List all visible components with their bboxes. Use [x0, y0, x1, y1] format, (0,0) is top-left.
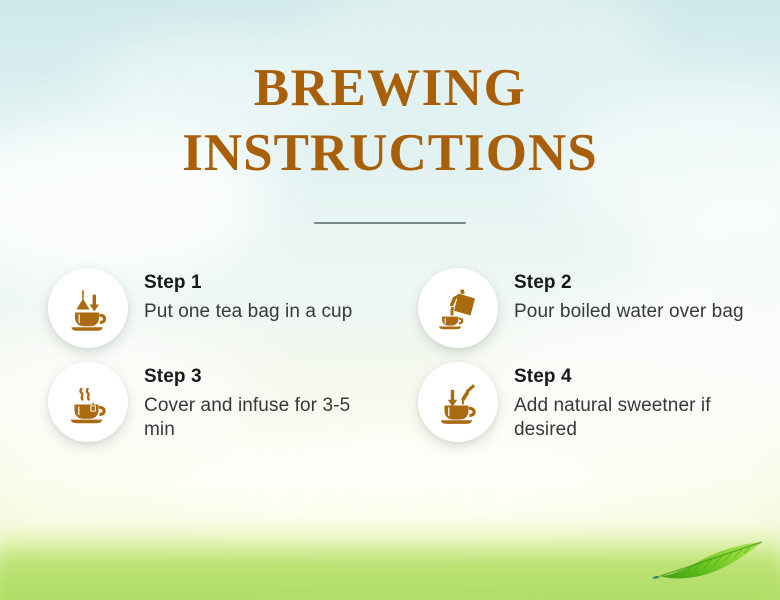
step-label: Step 2 [514, 273, 744, 294]
step-text: Step 3 Cover and infuse for 3-5 min [144, 362, 378, 443]
step-description: Add natural sweetner if desired [514, 394, 748, 443]
step-description: Pour boiled water over bag [514, 300, 744, 324]
page-title-line-1: BREWING [0, 62, 780, 115]
title-divider [314, 222, 466, 224]
step-icon-badge [418, 362, 498, 442]
honey-dipper-over-cup-icon [432, 376, 484, 428]
step-icon-badge [418, 268, 498, 348]
page-title: BREWING INSTRUCTIONS [0, 62, 780, 180]
step-label: Step 4 [514, 367, 748, 388]
step-label: Step 1 [144, 273, 352, 294]
step-item: Step 2 Pour boiled water over bag [418, 268, 748, 348]
brewing-instructions-card: BREWING INSTRUCTIONS [0, 0, 780, 600]
kettle-pouring-icon [432, 282, 484, 334]
teabag-into-cup-icon [62, 282, 114, 334]
page-title-line-2: INSTRUCTIONS [0, 127, 780, 180]
step-icon-badge [48, 268, 128, 348]
step-text: Step 2 Pour boiled water over bag [514, 268, 744, 324]
steps-grid: Step 1 Put one tea bag in a cup [48, 268, 748, 443]
green-leaf-icon [650, 526, 772, 588]
steaming-cup-with-teabag-icon [62, 376, 114, 428]
step-label: Step 3 [144, 367, 378, 388]
step-description: Put one tea bag in a cup [144, 300, 352, 324]
step-item: Step 3 Cover and infuse for 3-5 min [48, 362, 378, 443]
step-description: Cover and infuse for 3-5 min [144, 394, 378, 443]
step-text: Step 4 Add natural sweetner if desired [514, 362, 748, 443]
step-item: Step 4 Add natural sweetner if desired [418, 362, 748, 443]
step-icon-badge [48, 362, 128, 442]
step-item: Step 1 Put one tea bag in a cup [48, 268, 378, 348]
step-text: Step 1 Put one tea bag in a cup [144, 268, 352, 324]
